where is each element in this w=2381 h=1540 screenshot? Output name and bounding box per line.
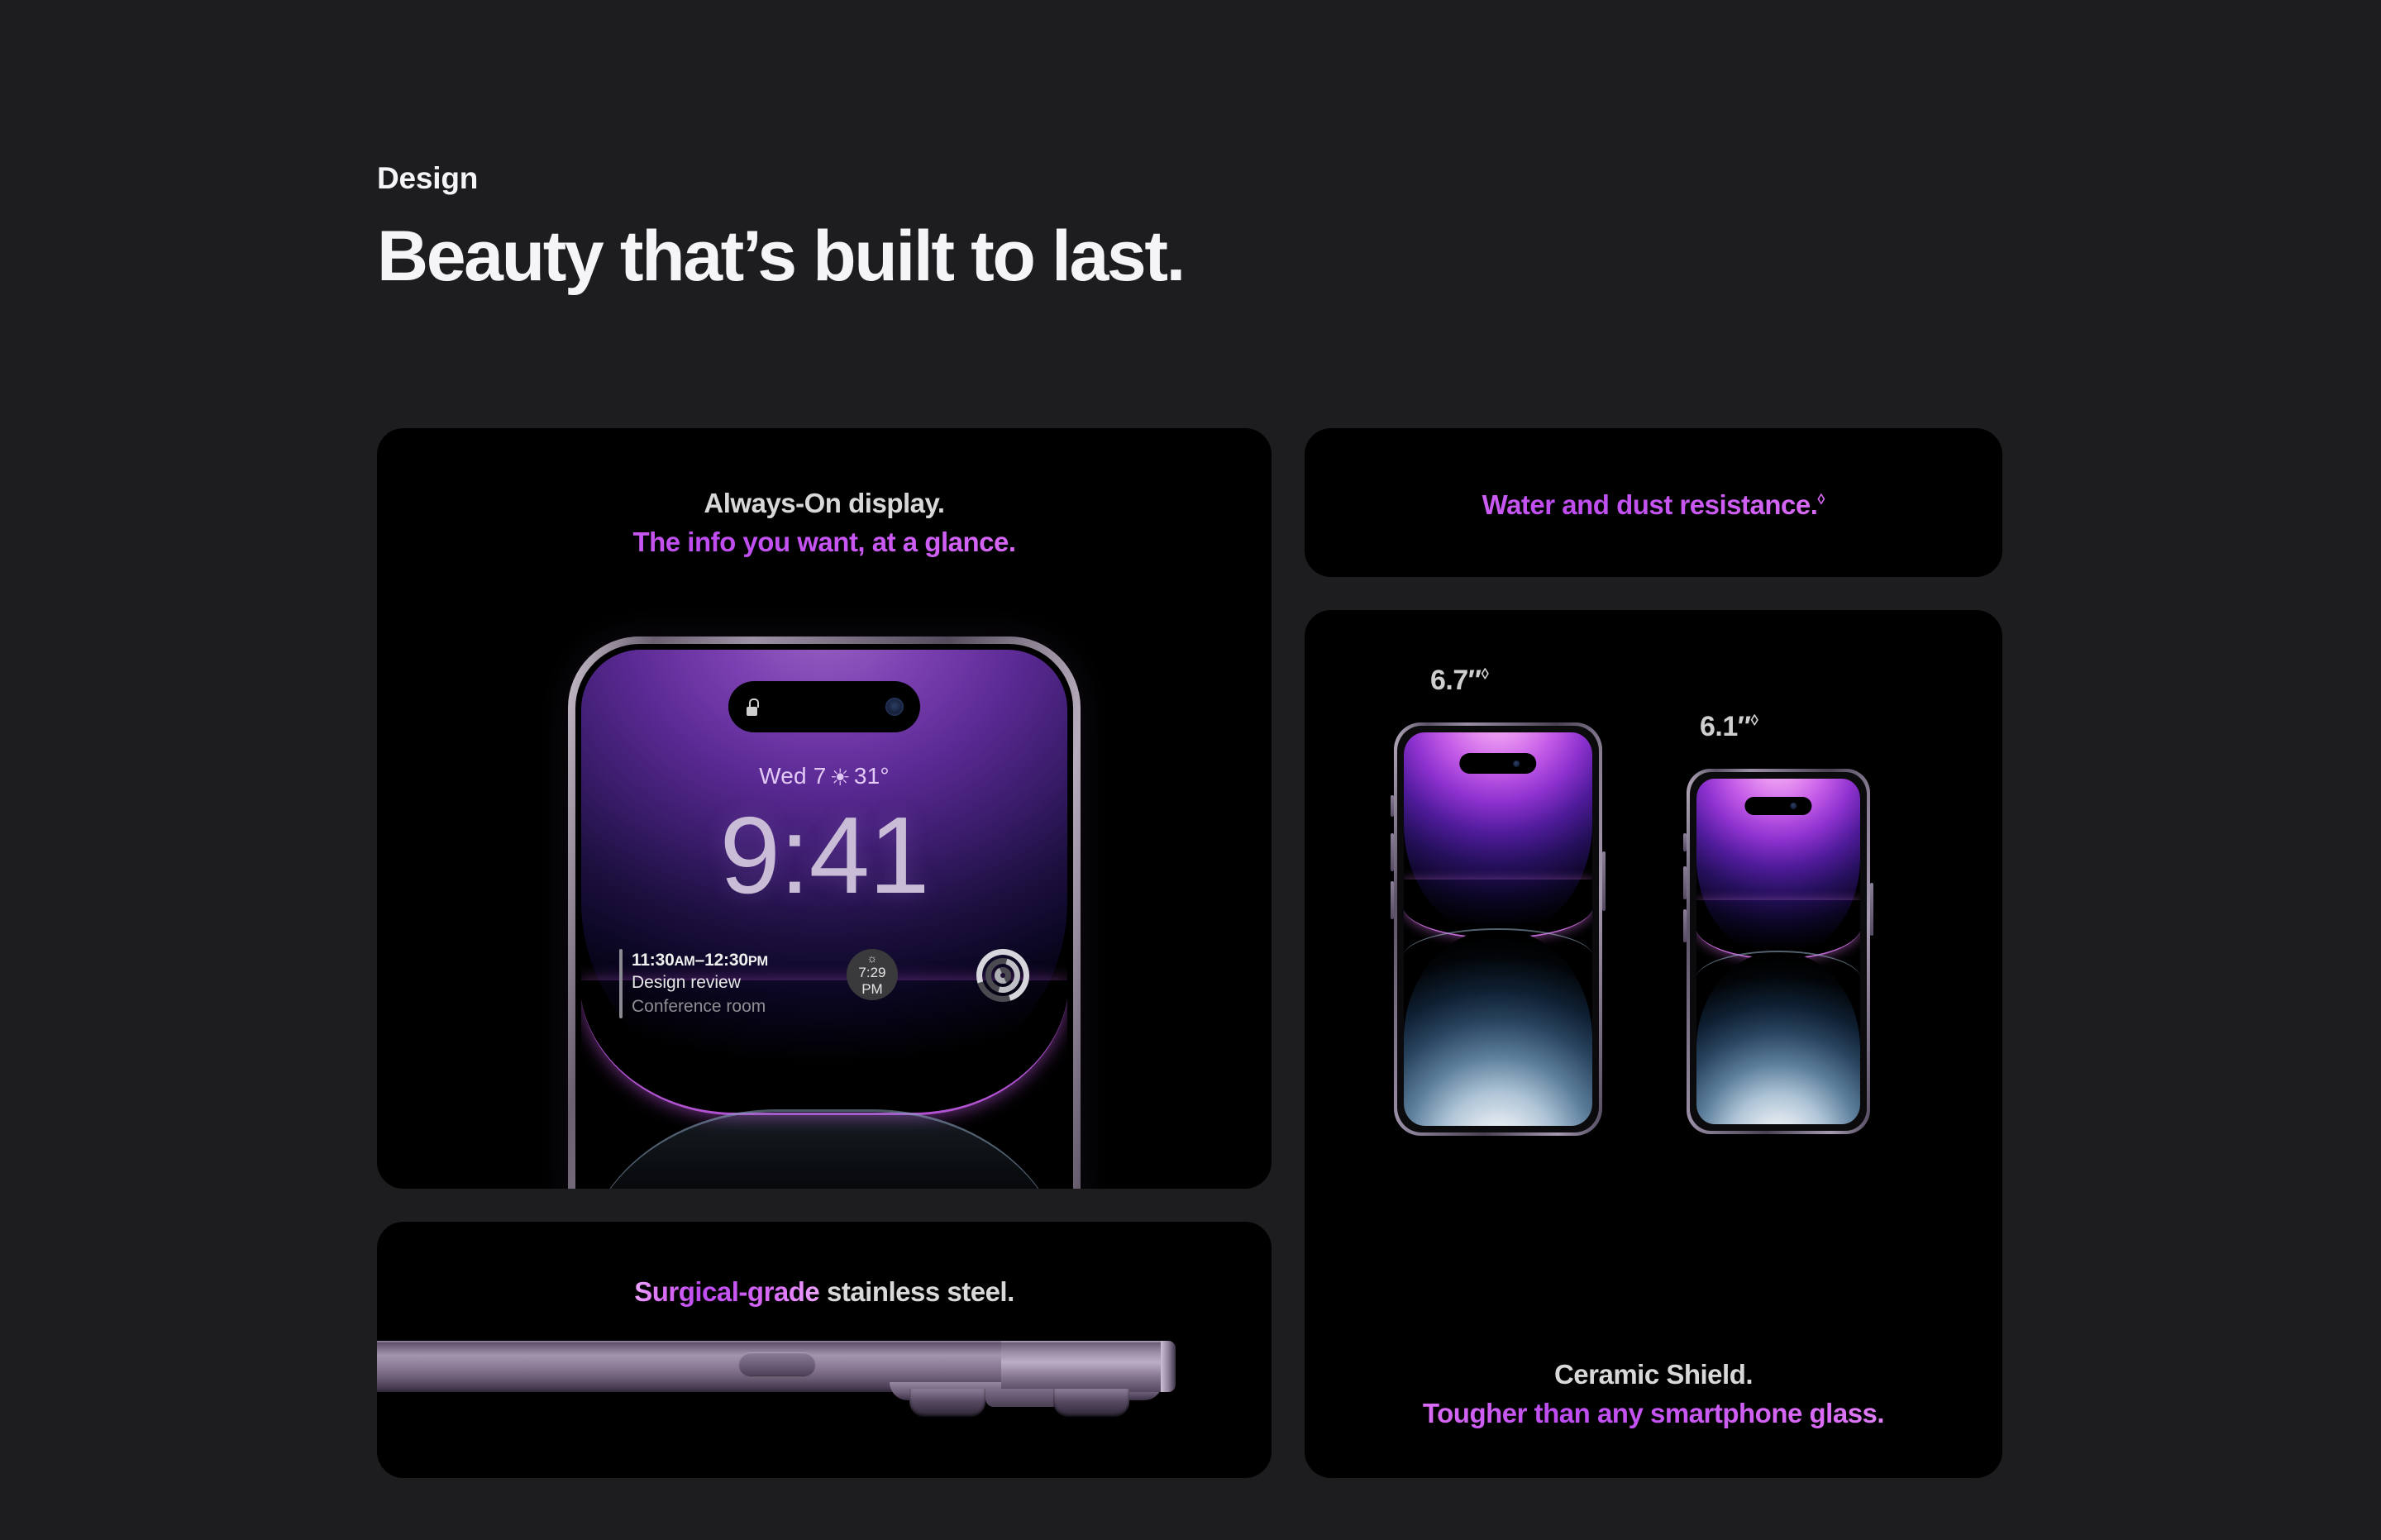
front-camera-icon-large xyxy=(1513,760,1520,767)
lock-screen-clock: 9:41 xyxy=(581,789,1067,922)
section-eyebrow: Design xyxy=(377,162,1184,196)
phone-screen-large xyxy=(1404,732,1592,1126)
dynamic-island[interactable] xyxy=(728,681,920,732)
calendar-accent-bar xyxy=(619,949,623,1018)
ceramic-shield-caption-line-1: Ceramic Shield. xyxy=(1305,1356,2002,1395)
iphone-always-on-mockup: Wed 7☀31° 9:41 11:30AM–12:30PM Design re… xyxy=(568,637,1081,1189)
footnote-marker-icon-small: ◊ xyxy=(1751,712,1758,729)
always-on-caption-line-2: The info you want, at a glance. xyxy=(377,523,1272,562)
volume-button xyxy=(739,1352,815,1376)
dynamic-island-small xyxy=(1744,797,1811,816)
camera-lens-left xyxy=(909,1389,985,1417)
calendar-event-title: Design review xyxy=(632,971,768,994)
card-water-dust-resistance[interactable]: Water and dust resistance.◊ xyxy=(1305,428,2002,577)
side-button xyxy=(1602,851,1606,911)
phone-frame: Wed 7☀31° 9:41 11:30AM–12:30PM Design re… xyxy=(568,637,1081,1189)
calendar-time-range: 11:30AM–12:30PM xyxy=(632,949,768,971)
phone-lock-screen: Wed 7☀31° 9:41 11:30AM–12:30PM Design re… xyxy=(581,650,1067,1189)
ceramic-shield-caption-line-2: Tougher than any smartphone glass. xyxy=(1305,1395,2002,1433)
dynamic-island-large xyxy=(1459,753,1536,775)
card-ceramic-shield[interactable]: 6.7″◊ 6.1″◊ xyxy=(1305,610,2002,1478)
phone-frame-small xyxy=(1687,769,1870,1134)
feature-card-grid: Always-On display. The info you want, at… xyxy=(377,428,2002,1478)
sunset-widget[interactable]: ☼ 7:29 PM xyxy=(847,949,898,1000)
iphone-67-inch-mockup xyxy=(1394,722,1602,1136)
lock-screen-date-weather: Wed 7☀31° xyxy=(581,762,1067,789)
water-dust-caption: Water and dust resistance.◊ xyxy=(1305,486,2002,525)
camera-bump-edge xyxy=(1161,1341,1176,1392)
camera-bump xyxy=(1001,1341,1175,1392)
always-on-caption-line-1: Always-On display. xyxy=(377,484,1272,523)
design-page: Design Beauty that’s built to last. Alwa… xyxy=(0,0,2381,1540)
sun-icon: ☀ xyxy=(830,764,851,791)
phone-bezel-small xyxy=(1690,772,1867,1131)
iphone-side-profile-image xyxy=(377,1328,1272,1468)
front-camera-icon-small xyxy=(1791,803,1797,809)
stainless-steel-rest: stainless steel. xyxy=(819,1276,1014,1307)
front-camera-icon xyxy=(885,698,904,716)
stainless-steel-caption-line: Surgical-grade stainless steel. xyxy=(377,1273,1272,1312)
phone-screen-small xyxy=(1696,779,1860,1124)
phone-bezel: Wed 7☀31° 9:41 11:30AM–12:30PM Design re… xyxy=(575,644,1073,1189)
footnote-marker-icon-large: ◊ xyxy=(1482,665,1489,683)
display-size-comparison: 6.7″◊ 6.1″◊ xyxy=(1305,653,2002,1314)
camera-lens-middle xyxy=(985,1389,1060,1407)
size-label-small: 6.1″◊ xyxy=(1700,711,1758,743)
stainless-steel-caption: Surgical-grade stainless steel. xyxy=(377,1273,1272,1312)
activity-rings-icon[interactable] xyxy=(976,949,1029,1002)
sunset-time: 7:29 xyxy=(858,965,885,980)
lock-screen-widgets: 11:30AM–12:30PM Design review Conference… xyxy=(619,949,1029,1018)
footnote-marker-icon: ◊ xyxy=(1817,491,1825,508)
iphone-61-inch-mockup xyxy=(1687,769,1870,1134)
always-on-caption: Always-On display. The info you want, at… xyxy=(377,484,1272,562)
calendar-widget[interactable]: 11:30AM–12:30PM Design review Conference… xyxy=(619,949,768,1018)
lock-screen-date: Wed 7 xyxy=(759,763,826,789)
sunset-icon: ☼ xyxy=(867,952,878,964)
card-always-on-display[interactable]: Always-On display. The info you want, at… xyxy=(377,428,1272,1189)
wallpaper-bottom-dome-large xyxy=(1404,929,1592,1126)
calendar-event-location: Conference room xyxy=(632,995,768,1018)
side-button-small xyxy=(1870,883,1873,936)
page-header: Design Beauty that’s built to last. xyxy=(377,162,1184,293)
water-dust-caption-line: Water and dust resistance.◊ xyxy=(1305,486,2002,525)
phone-bezel-large xyxy=(1397,726,1599,1132)
lock-screen-temperature: 31° xyxy=(854,763,890,789)
wallpaper-reflection xyxy=(581,1109,1067,1189)
lock-icon xyxy=(745,698,759,716)
ceramic-shield-caption: Ceramic Shield. Tougher than any smartph… xyxy=(1305,1356,2002,1433)
water-dust-text: Water and dust resistance. xyxy=(1482,489,1818,520)
stainless-steel-highlight: Surgical-grade xyxy=(634,1276,819,1307)
phone-frame-large xyxy=(1394,722,1602,1136)
sunset-period: PM xyxy=(861,981,883,997)
card-stainless-steel[interactable]: Surgical-grade stainless steel. xyxy=(377,1222,1272,1478)
page-title: Beauty that’s built to last. xyxy=(377,219,1184,293)
size-label-large: 6.7″◊ xyxy=(1430,665,1489,697)
wallpaper-bottom-dome-small xyxy=(1696,951,1860,1124)
camera-lens-right xyxy=(1053,1389,1129,1417)
